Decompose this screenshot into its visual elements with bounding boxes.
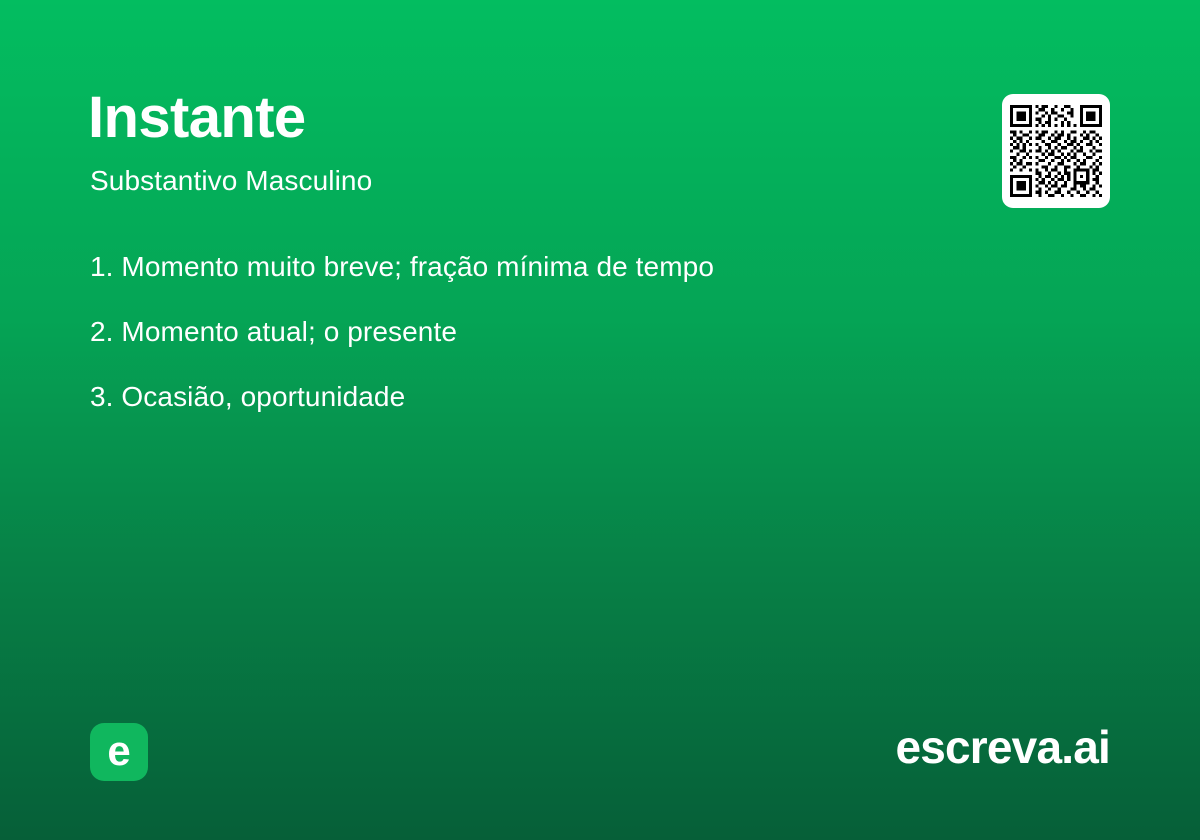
brand-logo-letter: e bbox=[107, 730, 130, 772]
list-item: 2. Momento atual; o presente bbox=[90, 314, 1030, 349]
definition-list: 1. Momento muito breve; fração mínima de… bbox=[90, 249, 1030, 414]
brand-wordmark: escreva.ai bbox=[895, 722, 1110, 773]
qr-code-icon bbox=[1010, 105, 1102, 197]
list-item: 1. Momento muito breve; fração mínima de… bbox=[90, 249, 1030, 284]
page-title: Instante bbox=[88, 88, 306, 149]
brand-logo-mark: e bbox=[90, 723, 148, 781]
qr-code-panel[interactable] bbox=[1002, 94, 1110, 208]
list-item: 3. Ocasião, oportunidade bbox=[90, 379, 1030, 414]
dictionary-card: Instante Substantivo Masculino 1. Moment… bbox=[0, 0, 1200, 840]
part-of-speech-label: Substantivo Masculino bbox=[90, 166, 372, 197]
